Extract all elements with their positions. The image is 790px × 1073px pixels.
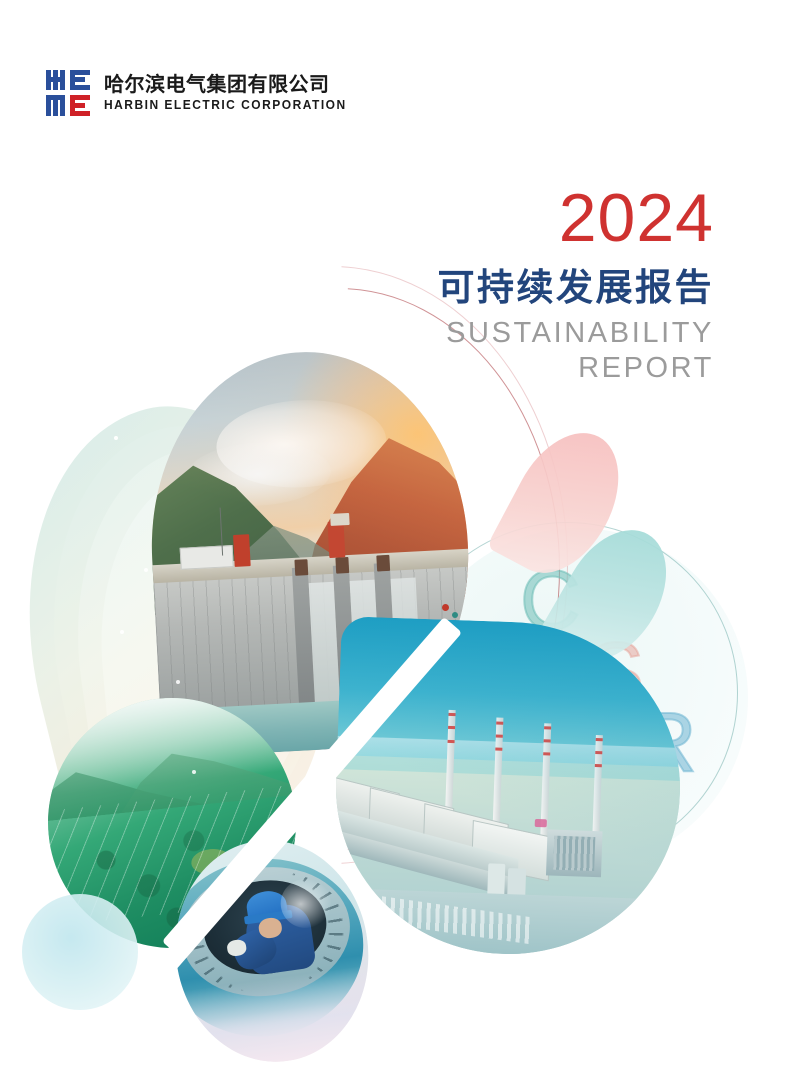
sparkle-dot-4	[176, 680, 180, 684]
company-name-en: HARBIN ELECTRIC CORPORATION	[104, 98, 347, 113]
accent-dot-teal	[452, 612, 458, 618]
company-logo: 哈尔滨电气集团有限公司 HARBIN ELECTRIC CORPORATION	[46, 70, 357, 116]
sparkle-dot-3	[120, 630, 124, 634]
power-plant-photo	[330, 616, 685, 960]
report-title-en-line2: REPORT	[438, 351, 715, 386]
sparkle-dot-5	[192, 770, 196, 774]
sparkle-dot-1	[114, 436, 118, 440]
he-monogram-icon	[46, 70, 90, 116]
logo-wordmark: 哈尔滨电气集团有限公司 HARBIN ELECTRIC CORPORATION	[104, 73, 357, 113]
report-title-cn: 可持续发展报告	[438, 267, 715, 310]
light-blue-disc	[22, 894, 138, 1010]
report-year: 2024	[438, 186, 715, 251]
report-cover-page: 哈尔滨电气集团有限公司 HARBIN ELECTRIC CORPORATION …	[0, 0, 790, 1073]
accent-dot-red	[442, 604, 449, 611]
cover-artwork: C S R	[0, 300, 790, 1073]
company-name-cn: 哈尔滨电气集团有限公司	[104, 73, 357, 95]
worker-turbine-photo	[161, 828, 382, 1073]
report-title-en-line1: SUSTAINABILITY	[438, 316, 715, 351]
sparkle-dot-2	[144, 568, 148, 572]
cover-title-block: 2024 可持续发展报告 SUSTAINABILITY REPORT	[438, 186, 715, 387]
